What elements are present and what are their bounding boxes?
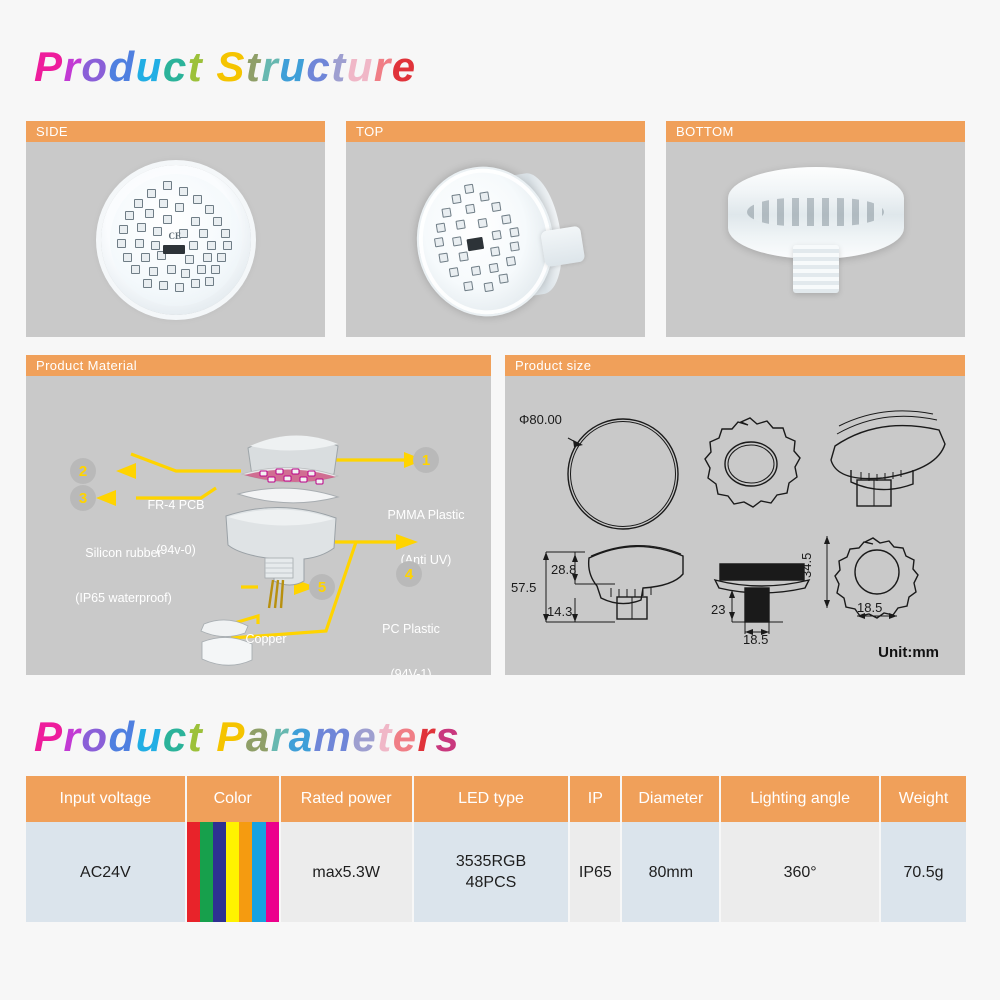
panel-top: TOP — [346, 121, 645, 337]
dim-stem-length: 23 — [711, 602, 725, 617]
col-header-led-type: LED type — [413, 776, 570, 822]
material-callout-3-badge: 3 — [70, 485, 96, 511]
panel-size-body: Φ80.00 57.5 28.8 14.3 23 18.5 34.5 18.5 … — [505, 376, 965, 675]
color-swatch-strip — [187, 822, 279, 922]
swatch-magenta — [266, 822, 279, 922]
dim-nut-across: 34.5 — [799, 553, 814, 578]
col-header-weight: Weight — [880, 776, 966, 822]
col-header-rated-power: Rated power — [280, 776, 413, 822]
panel-bottom: BOTTOM — [666, 121, 965, 337]
panel-top-header: TOP — [346, 121, 645, 142]
dim-stem-width: 18.5 — [743, 632, 768, 647]
cell-rated-power: max5.3W — [280, 822, 413, 922]
col-header-diameter: Diameter — [621, 776, 720, 822]
col-header-lighting-angle: Lighting angle — [720, 776, 880, 822]
material-callout-3-label: Silicon rubber (IP65 waterproof) — [36, 516, 211, 636]
material-callout-4-sub: (94V-1) — [341, 667, 481, 675]
material-callout-4-title: PC Plastic — [341, 622, 481, 637]
cell-lighting-angle: 360° — [720, 822, 880, 922]
driver-chip — [467, 236, 485, 250]
material-callout-1-label: PMMA Plastic (Anti UV) — [356, 478, 491, 598]
page-title-parameters: Product Parameters — [34, 716, 460, 758]
panel-material-header: Product Material — [26, 355, 491, 376]
panel-material-body: 1 PMMA Plastic (Anti UV) 2 FR-4 PCB (94v… — [26, 376, 491, 675]
material-callout-5-badge: 5 — [309, 574, 335, 600]
lamp-stem — [541, 225, 586, 267]
col-header-ip: IP — [569, 776, 621, 822]
panel-side-header: SIDE — [26, 121, 325, 142]
panel-size-header: Product size — [505, 355, 965, 376]
lamp-bottom-view — [728, 167, 904, 297]
size-unit-label: Unit:mm — [878, 644, 939, 661]
cell-color — [186, 822, 280, 922]
col-header-input-voltage: Input voltage — [26, 776, 186, 822]
swatch-red — [187, 822, 200, 922]
material-callout-3-title: Silicon rubber — [36, 546, 211, 561]
material-callout-1-badge: 1 — [413, 447, 439, 473]
cell-input-voltage: AC24V — [26, 822, 186, 922]
panel-bottom-header: BOTTOM — [666, 121, 965, 142]
page-title-structure: Product Structure — [34, 46, 417, 88]
swatch-blue — [213, 822, 226, 922]
material-callout-2-title: FR-4 PCB — [106, 498, 246, 513]
cell-diameter: 80mm — [621, 822, 720, 922]
cell-led-type: 3535RGB 48PCS — [413, 822, 570, 922]
material-callout-4-badge: 4 — [396, 561, 422, 587]
cell-weight: 70.5g — [880, 822, 966, 922]
panel-bottom-image — [666, 142, 965, 337]
panel-side: SIDE CE — [26, 121, 325, 337]
dim-overall-height: 57.5 — [511, 580, 536, 595]
swatch-green — [200, 822, 213, 922]
swatch-cyan — [252, 822, 265, 922]
swatch-yellow — [226, 822, 239, 922]
cell-ip: IP65 — [569, 822, 621, 922]
lamp-thread — [793, 245, 839, 293]
product-parameters-table: Input voltage Color Rated power LED type… — [26, 776, 966, 922]
swatch-orange — [239, 822, 252, 922]
size-drawings: Φ80.00 57.5 28.8 14.3 23 18.5 34.5 18.5 — [505, 376, 965, 675]
driver-chip — [163, 245, 185, 254]
dim-base-height: 14.3 — [547, 604, 572, 619]
material-callout-4-label: PC Plastic (94V-1) — [341, 592, 481, 675]
panel-product-material: Product Material — [26, 355, 491, 675]
material-callout-3-sub: (IP65 waterproof) — [36, 591, 211, 606]
panel-top-image — [346, 142, 645, 337]
dim-nut-width: 18.5 — [857, 600, 882, 615]
material-callout-1-sub: (Anti UV) — [356, 553, 491, 568]
ce-mark: CE — [169, 231, 182, 241]
table-row: AC24V max5.3W 3535RGB 48PCS IP65 80mm 36… — [26, 822, 966, 922]
dim-dome-height: 28.8 — [551, 562, 576, 577]
material-callout-1-title: PMMA Plastic — [356, 508, 491, 523]
material-callout-5-label: Copper — [221, 602, 311, 675]
panel-side-image: CE — [26, 142, 325, 337]
material-callout-5-title: Copper — [221, 632, 311, 647]
material-callout-2-badge: 2 — [70, 458, 96, 484]
lamp-angled-view — [407, 151, 597, 327]
col-header-color: Color — [186, 776, 280, 822]
panel-product-size: Product size — [505, 355, 965, 675]
dim-diameter: Φ80.00 — [519, 412, 562, 427]
lamp-front-view: CE — [101, 165, 251, 315]
table-header-row: Input voltage Color Rated power LED type… — [26, 776, 966, 822]
